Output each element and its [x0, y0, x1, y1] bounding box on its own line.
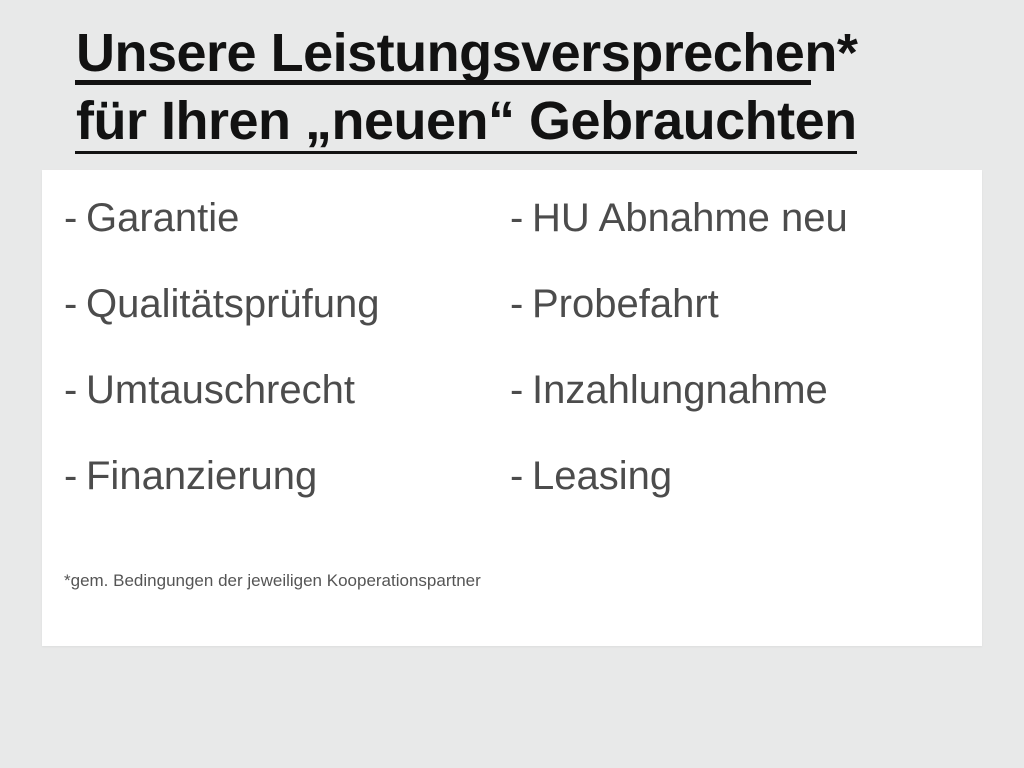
bullet-dash-icon: -	[510, 282, 532, 326]
bullet-dash-icon: -	[510, 368, 532, 412]
benefit-label-umtauschrecht: Umtauschrecht	[86, 368, 355, 412]
benefit-label-hu-abnahme-neu: HU Abnahme neu	[532, 196, 848, 240]
slide-root: Unsere Leistungsversprechen* für Ihren „…	[0, 0, 1024, 768]
bullet-dash-icon: -	[510, 454, 532, 498]
benefit-label-qualitaetspruefung: Qualitätsprüfung	[86, 282, 380, 326]
bullet-dash-icon: -	[510, 196, 532, 240]
list-item: - Probefahrt	[510, 282, 980, 368]
bullet-dash-icon: -	[64, 454, 86, 498]
list-item: - Qualitätsprüfung	[64, 282, 514, 368]
benefit-label-probefahrt: Probefahrt	[532, 282, 719, 326]
footnote-text: *gem. Bedingungen der jeweiligen Koopera…	[64, 570, 481, 592]
title-asterisk: *	[837, 23, 858, 83]
benefit-label-finanzierung: Finanzierung	[86, 454, 317, 498]
list-item: - HU Abnahme neu	[510, 196, 980, 282]
title-line-1: Unsere Leistungsversprechen*	[76, 18, 986, 88]
benefit-label-garantie: Garantie	[86, 196, 239, 240]
benefits-column-left: - Garantie - Qualitätsprüfung - Umtausch…	[64, 196, 514, 540]
benefit-label-inzahlungnahme: Inzahlungnahme	[532, 368, 828, 412]
list-item: - Finanzierung	[64, 454, 514, 540]
benefits-column-right: - HU Abnahme neu - Probefahrt - Inzahlun…	[510, 196, 980, 540]
benefit-label-leasing: Leasing	[532, 454, 672, 498]
benefits-card: - Garantie - Qualitätsprüfung - Umtausch…	[42, 170, 982, 646]
list-item: - Umtauschrecht	[64, 368, 514, 454]
bullet-dash-icon: -	[64, 196, 86, 240]
page-title: Unsere Leistungsversprechen* für Ihren „…	[76, 18, 986, 156]
title-line-2-text: für Ihren „neuen“ Gebrauchten	[76, 86, 857, 156]
title-line-1-text: Unsere Leistungsversprechen	[76, 18, 837, 88]
list-item: - Inzahlungnahme	[510, 368, 980, 454]
bullet-dash-icon: -	[64, 368, 86, 412]
title-line-2: für Ihren „neuen“ Gebrauchten	[76, 86, 986, 156]
list-item: - Garantie	[64, 196, 514, 282]
benefits-grid: - Garantie - Qualitätsprüfung - Umtausch…	[42, 170, 982, 570]
bullet-dash-icon: -	[64, 282, 86, 326]
list-item: - Leasing	[510, 454, 980, 540]
